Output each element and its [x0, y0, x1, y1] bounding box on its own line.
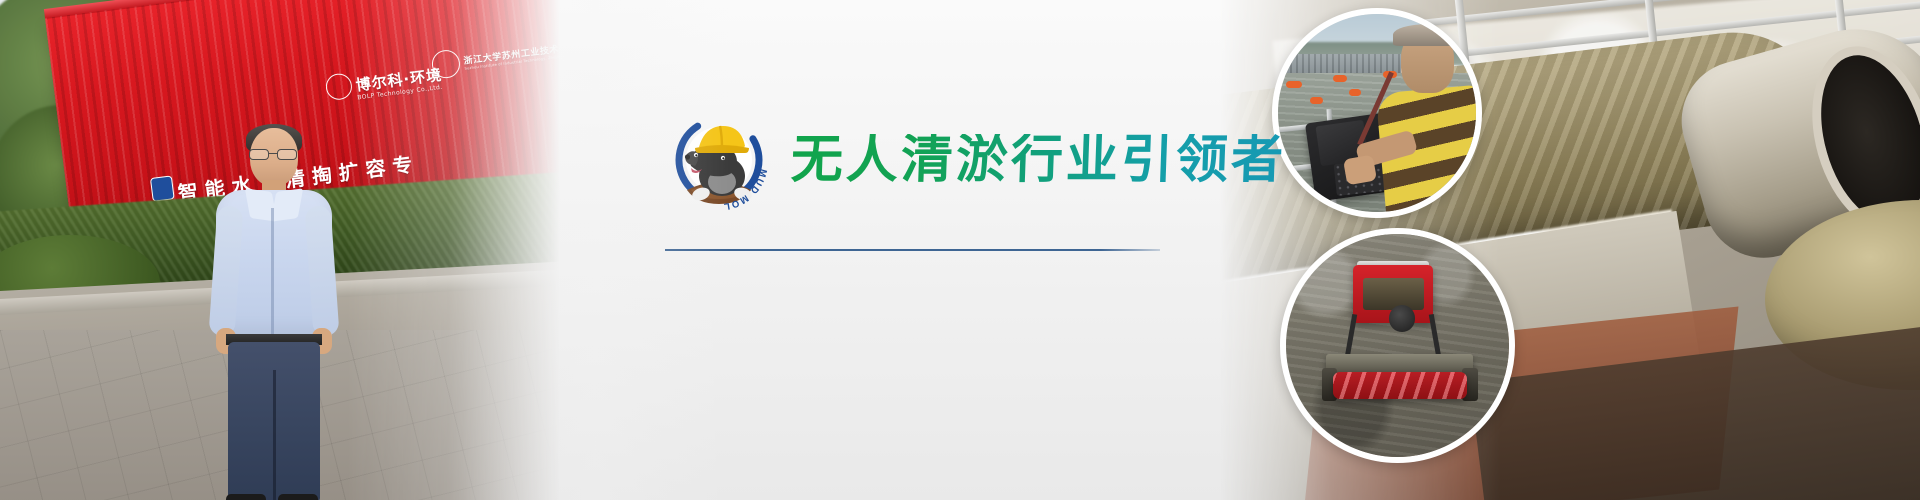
slogan-badge-icon — [150, 175, 175, 202]
operator-hand — [1343, 154, 1377, 184]
shirt-placket — [271, 208, 274, 336]
float-buoy — [1349, 89, 1361, 96]
circle-photo-dredger — [1280, 228, 1515, 463]
operator-cap — [1393, 24, 1464, 46]
headline: 无人清淤行业引领者 — [790, 134, 1287, 186]
logo-and-headline: MUD MOLE 无人清淤行业引领者 — [665, 104, 1286, 216]
circle-photo-operator — [1272, 8, 1482, 218]
center-content: MUD MOLE 无人清淤行业引领者 — [665, 0, 1265, 500]
glasses-icon — [249, 149, 299, 160]
float-buoy — [1310, 97, 1323, 104]
trousers — [228, 342, 320, 500]
mud-mole-logo: MUD MOLE — [665, 104, 777, 216]
red-auger — [1333, 372, 1467, 399]
float-buoy — [1333, 75, 1347, 82]
person-portrait — [214, 128, 334, 500]
divider-line — [665, 249, 1160, 251]
float-buoy — [1286, 81, 1302, 88]
left-photo: 博尔科·环境 BOLP Technology Co.,Ltd. 浙江大学苏州工业… — [0, 0, 560, 500]
shoe-right — [278, 494, 318, 500]
hero-banner: 博尔科·环境 BOLP Technology Co.,Ltd. 浙江大学苏州工业… — [0, 0, 1920, 500]
shoe-left — [226, 494, 266, 500]
